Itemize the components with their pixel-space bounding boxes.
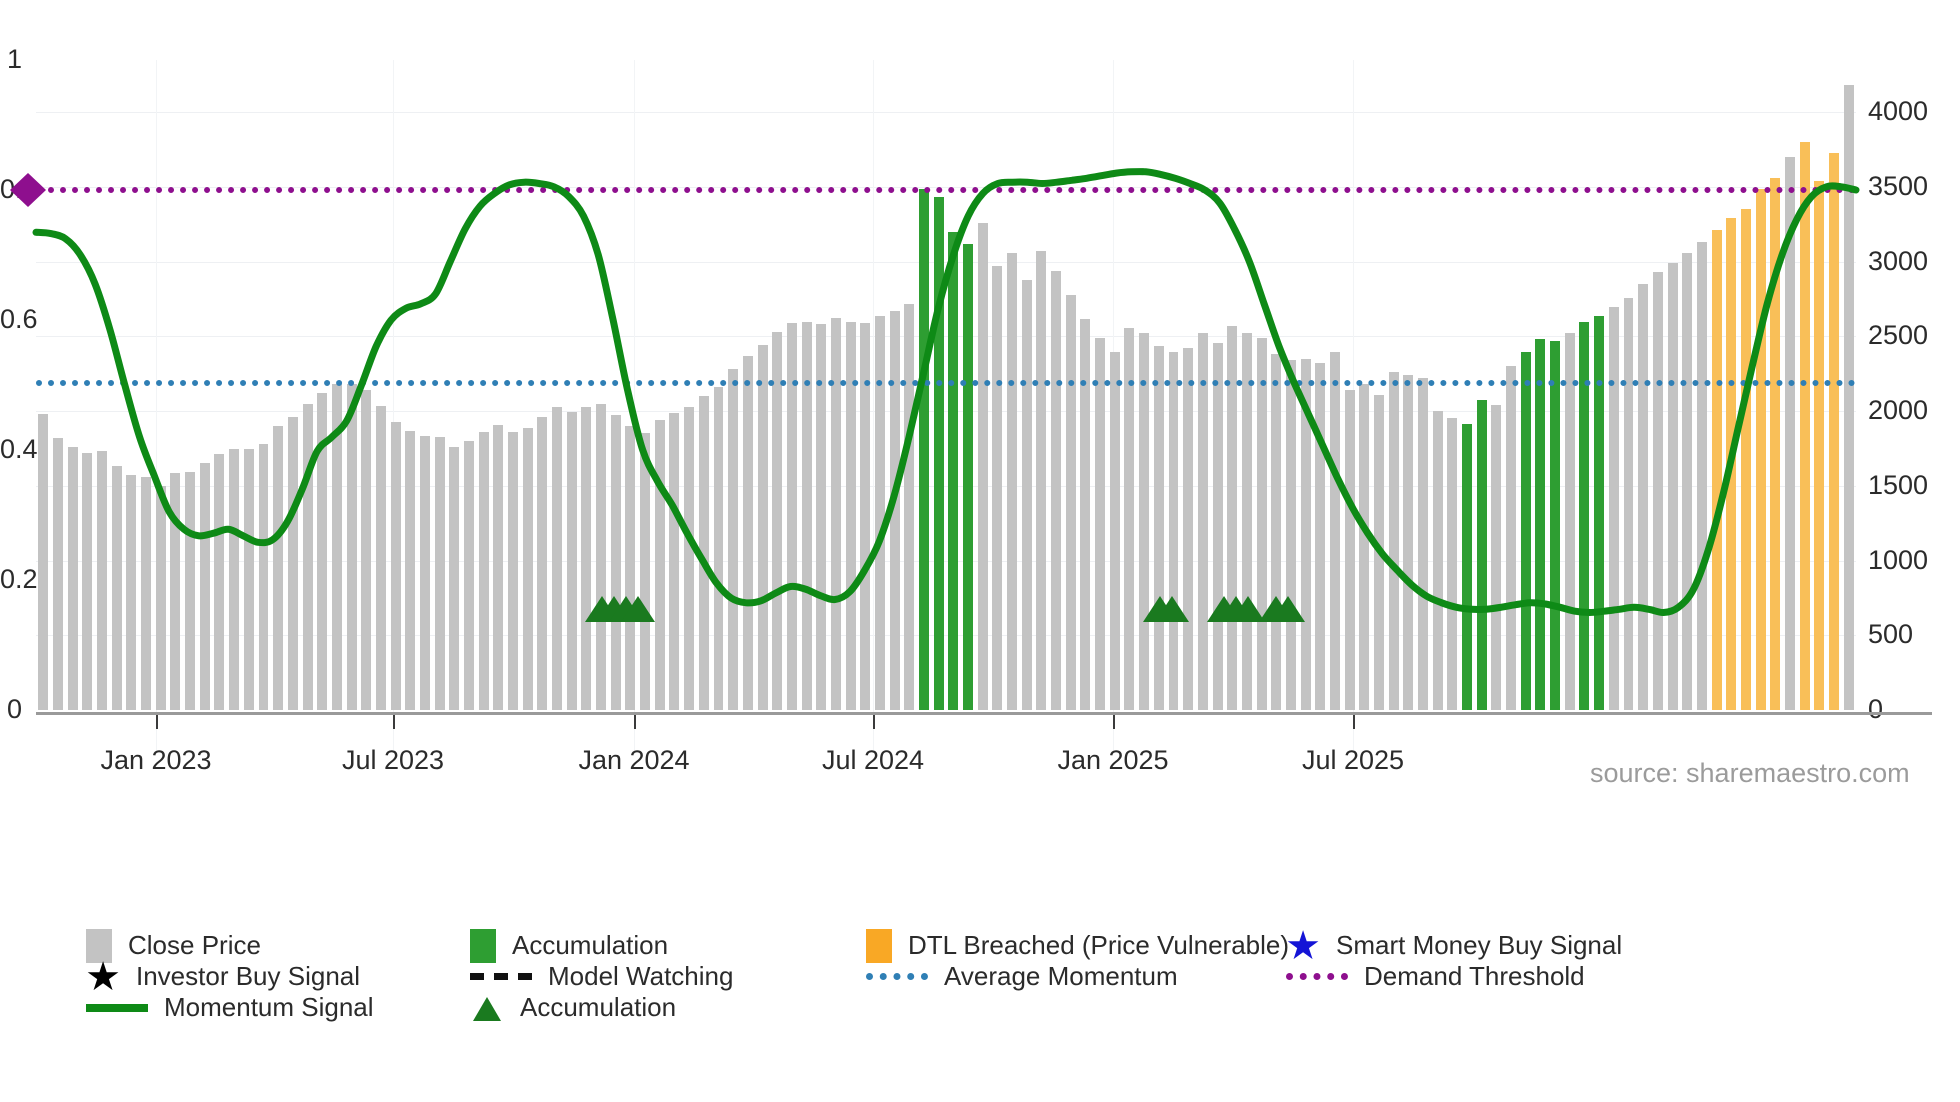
- x-axis-tick: [873, 715, 875, 729]
- legend-star-icon: ★: [86, 960, 120, 994]
- legend-dotted-line-icon: [866, 973, 928, 980]
- legend-row: ★Investor Buy SignalModel WatchingAverag…: [86, 961, 1946, 992]
- x-axis-tick: [156, 715, 158, 729]
- x-axis-tick: [1353, 715, 1355, 729]
- legend-label: Accumulation: [512, 930, 668, 961]
- legend-dashed-line-icon: [470, 973, 532, 980]
- legend-item[interactable]: Model Watching: [470, 961, 733, 992]
- legend-item[interactable]: Accumulation: [470, 930, 668, 961]
- legend-star-icon: ★: [1286, 929, 1320, 963]
- legend-line-icon: [86, 1004, 148, 1012]
- legend-label: Accumulation: [520, 992, 676, 1023]
- x-axis-tick: [1113, 715, 1115, 729]
- legend-item[interactable]: Average Momentum: [866, 961, 1178, 992]
- legend-label: Demand Threshold: [1364, 961, 1585, 992]
- legend-square-icon: [866, 929, 892, 963]
- source-attribution: source: sharemaestro.com: [1590, 758, 1910, 789]
- legend-row: Close PriceAccumulationDTL Breached (Pri…: [86, 930, 1946, 961]
- legend-item[interactable]: DTL Breached (Price Vulnerable): [866, 930, 1289, 961]
- accumulation-marker: [621, 596, 655, 622]
- legend-label: Investor Buy Signal: [136, 961, 360, 992]
- legend-item[interactable]: Momentum Signal: [86, 992, 374, 1023]
- legend-label: Model Watching: [548, 961, 733, 992]
- x-axis-line: [36, 712, 1932, 715]
- momentum-signal-path: [36, 172, 1856, 613]
- legend-square-icon: [470, 929, 496, 963]
- legend-label: Smart Money Buy Signal: [1336, 930, 1622, 961]
- x-axis-tick-label: Jul 2023: [283, 745, 503, 776]
- legend-item[interactable]: Demand Threshold: [1286, 961, 1585, 992]
- legend-label: Average Momentum: [944, 961, 1178, 992]
- legend-label: Close Price: [128, 930, 261, 961]
- legend-row: Momentum SignalAccumulation: [86, 992, 1946, 1023]
- x-axis-tick: [393, 715, 395, 729]
- chart-legend: Close PriceAccumulationDTL Breached (Pri…: [86, 930, 1946, 1023]
- x-axis-tick-label: Jan 2023: [46, 745, 266, 776]
- x-axis-tick-label: Jul 2025: [1243, 745, 1463, 776]
- legend-item[interactable]: ★Smart Money Buy Signal: [1286, 930, 1622, 961]
- x-axis-tick-label: Jan 2025: [1003, 745, 1223, 776]
- accumulation-marker: [1271, 596, 1305, 622]
- legend-item[interactable]: Accumulation: [470, 992, 676, 1023]
- legend-label: DTL Breached (Price Vulnerable): [908, 930, 1289, 961]
- x-axis-tick: [634, 715, 636, 729]
- legend-item[interactable]: ★Investor Buy Signal: [86, 961, 360, 992]
- x-axis-tick-label: Jul 2024: [763, 745, 983, 776]
- legend-triangle-icon: [470, 991, 504, 1025]
- chart-canvas: 00.20.40.60.81 0500100015002000250030003…: [0, 0, 1960, 1102]
- x-axis-tick-label: Jan 2024: [524, 745, 744, 776]
- accumulation-marker: [1155, 596, 1189, 622]
- legend-label: Momentum Signal: [164, 992, 374, 1023]
- legend-dotted-line-icon: [1286, 973, 1348, 980]
